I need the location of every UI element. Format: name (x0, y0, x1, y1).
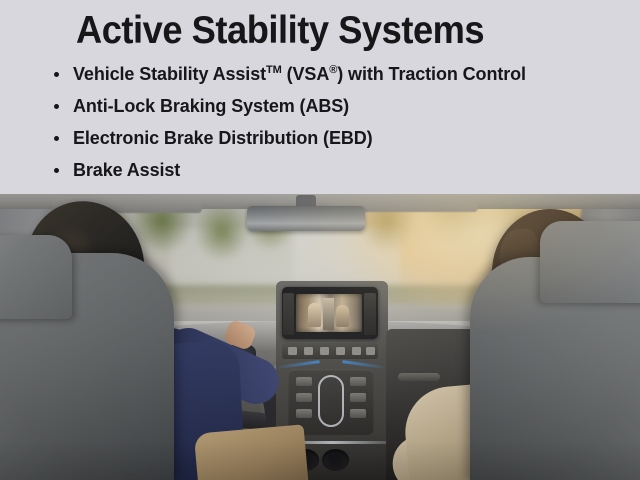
feature-bullet-list: Vehicle Stability AssistTM (VSA®) with T… (52, 58, 612, 186)
passenger-headrest (540, 221, 640, 303)
bullet-text: Brake Assist (73, 160, 180, 180)
climate-key (320, 347, 329, 355)
bullet-text: Anti-Lock Braking System (ABS) (73, 96, 349, 116)
driver-headrest (0, 235, 72, 319)
gear-button-r (296, 393, 312, 402)
infotainment-screen (296, 294, 362, 332)
slide-root: Active Stability Systems Vehicle Stabili… (0, 0, 640, 480)
gear-button-p (296, 377, 312, 386)
climate-key (336, 347, 345, 355)
cabin-camera-passenger-2 (336, 305, 349, 327)
bullet-dot-icon (54, 136, 59, 141)
screen-buttons-right (364, 293, 376, 335)
list-item-anti-lock-braking-system: Anti-Lock Braking System (ABS) (52, 90, 612, 122)
text-panel: Active Stability Systems Vehicle Stabili… (0, 0, 640, 194)
gear-button-d (350, 377, 366, 386)
bullet-text-post: ) with Traction Control (337, 64, 526, 84)
gear-button-l (350, 393, 366, 402)
vehicle-interior-photo (0, 193, 640, 480)
list-item-brake-assist: Brake Assist (52, 154, 612, 186)
bullet-text: Electronic Brake Distribution (EBD) (73, 128, 373, 148)
climate-key (352, 347, 361, 355)
climate-control-row (282, 343, 378, 359)
cabin-camera-passenger-1 (308, 303, 321, 327)
trademark-icon: TM (266, 64, 282, 76)
climate-key (366, 347, 375, 355)
bullet-dot-icon (54, 104, 59, 109)
climate-key (288, 347, 297, 355)
bullet-dot-icon (54, 168, 59, 173)
rear-view-mirror (247, 206, 365, 231)
bullet-dot-icon (54, 72, 59, 77)
list-item-electronic-brake-distribution: Electronic Brake Distribution (EBD) (52, 122, 612, 154)
bullet-text-mid: (VSA (282, 64, 330, 84)
screen-buttons-left (283, 293, 294, 335)
list-item-vehicle-stability-assist: Vehicle Stability AssistTM (VSA®) with T… (52, 58, 612, 90)
climate-key (304, 347, 313, 355)
driver-trousers (194, 424, 308, 480)
gear-button-brake-hold (350, 409, 366, 418)
cabin-camera-middle (323, 298, 334, 330)
page-title: Active Stability Systems (76, 8, 484, 54)
cupholder-right (322, 449, 349, 471)
gear-selector-chrome-ring (318, 375, 344, 427)
bullet-text-pre: Vehicle Stability Assist (73, 64, 266, 84)
door-handle (398, 373, 440, 381)
gear-button-n (296, 409, 312, 418)
